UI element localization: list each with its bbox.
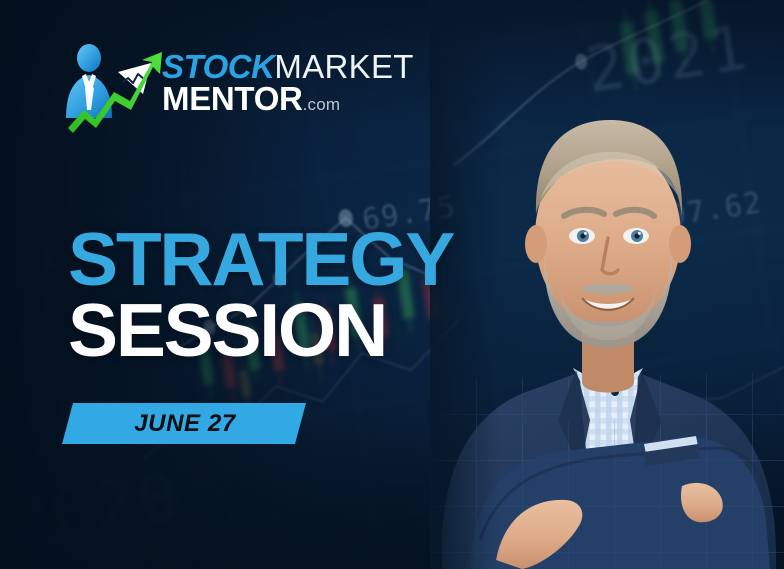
date-badge-label: JUNE 27 — [134, 410, 236, 438]
strategy-session-promo-banner: 2021 2020 21 69.75 97.62 — [0, 0, 784, 569]
date-badge[interactable]: JUNE 27 — [62, 403, 306, 444]
host-portrait — [430, 0, 784, 569]
stock-market-mentor-logo[interactable]: STOCKMARKET MENTOR.com — [52, 38, 342, 136]
logo-text-mentor: MENTOR — [162, 80, 303, 117]
logo-text-dotcom: .com — [303, 95, 341, 114]
logo-wordmark: STOCKMARKET MENTOR.com — [162, 51, 414, 114]
page-title: STRATEGY SESSION — [68, 226, 453, 365]
headline-line-session: SESSION — [68, 296, 453, 365]
headline-line-strategy: STRATEGY — [68, 226, 453, 292]
businessman-chart-arrow-icon — [52, 38, 174, 133]
